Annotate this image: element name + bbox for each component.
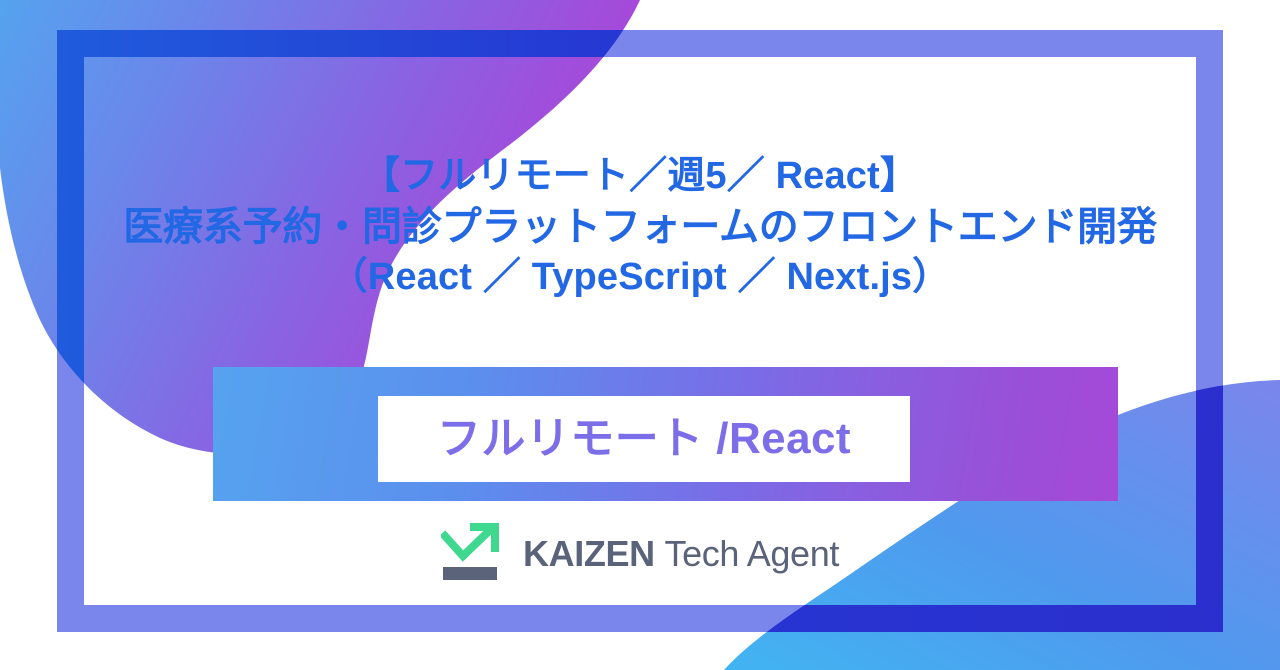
brand-name-regular: Tech Agent	[664, 533, 839, 574]
brand-logo-text: KAIZEN Tech Agent	[523, 536, 839, 572]
title-line-1: 【フルリモート／週5／ React】	[0, 152, 1280, 201]
brand-name-bold: KAIZEN	[523, 533, 655, 574]
page-title: 【フルリモート／週5／ React】 医療系予約・問診プラットフォームのフロント…	[0, 152, 1280, 303]
title-line-2: 医療系予約・問診プラットフォームのフロントエンド開発	[0, 201, 1280, 253]
brand-logo: KAIZEN Tech Agent	[0, 519, 1280, 589]
growth-arrow-icon	[441, 523, 509, 585]
badge-box: フルリモート /React	[378, 396, 910, 482]
eyecatch-content: 【フルリモート／週5／ React】 医療系予約・問診プラットフォームのフロント…	[0, 0, 1280, 670]
eyecatch-canvas: 【フルリモート／週5／ React】 医療系予約・問診プラットフォームのフロント…	[0, 0, 1280, 670]
badge-label: フルリモート /React	[437, 417, 851, 461]
title-line-3: （React ／ TypeScript ／ Next.js）	[0, 253, 1280, 302]
